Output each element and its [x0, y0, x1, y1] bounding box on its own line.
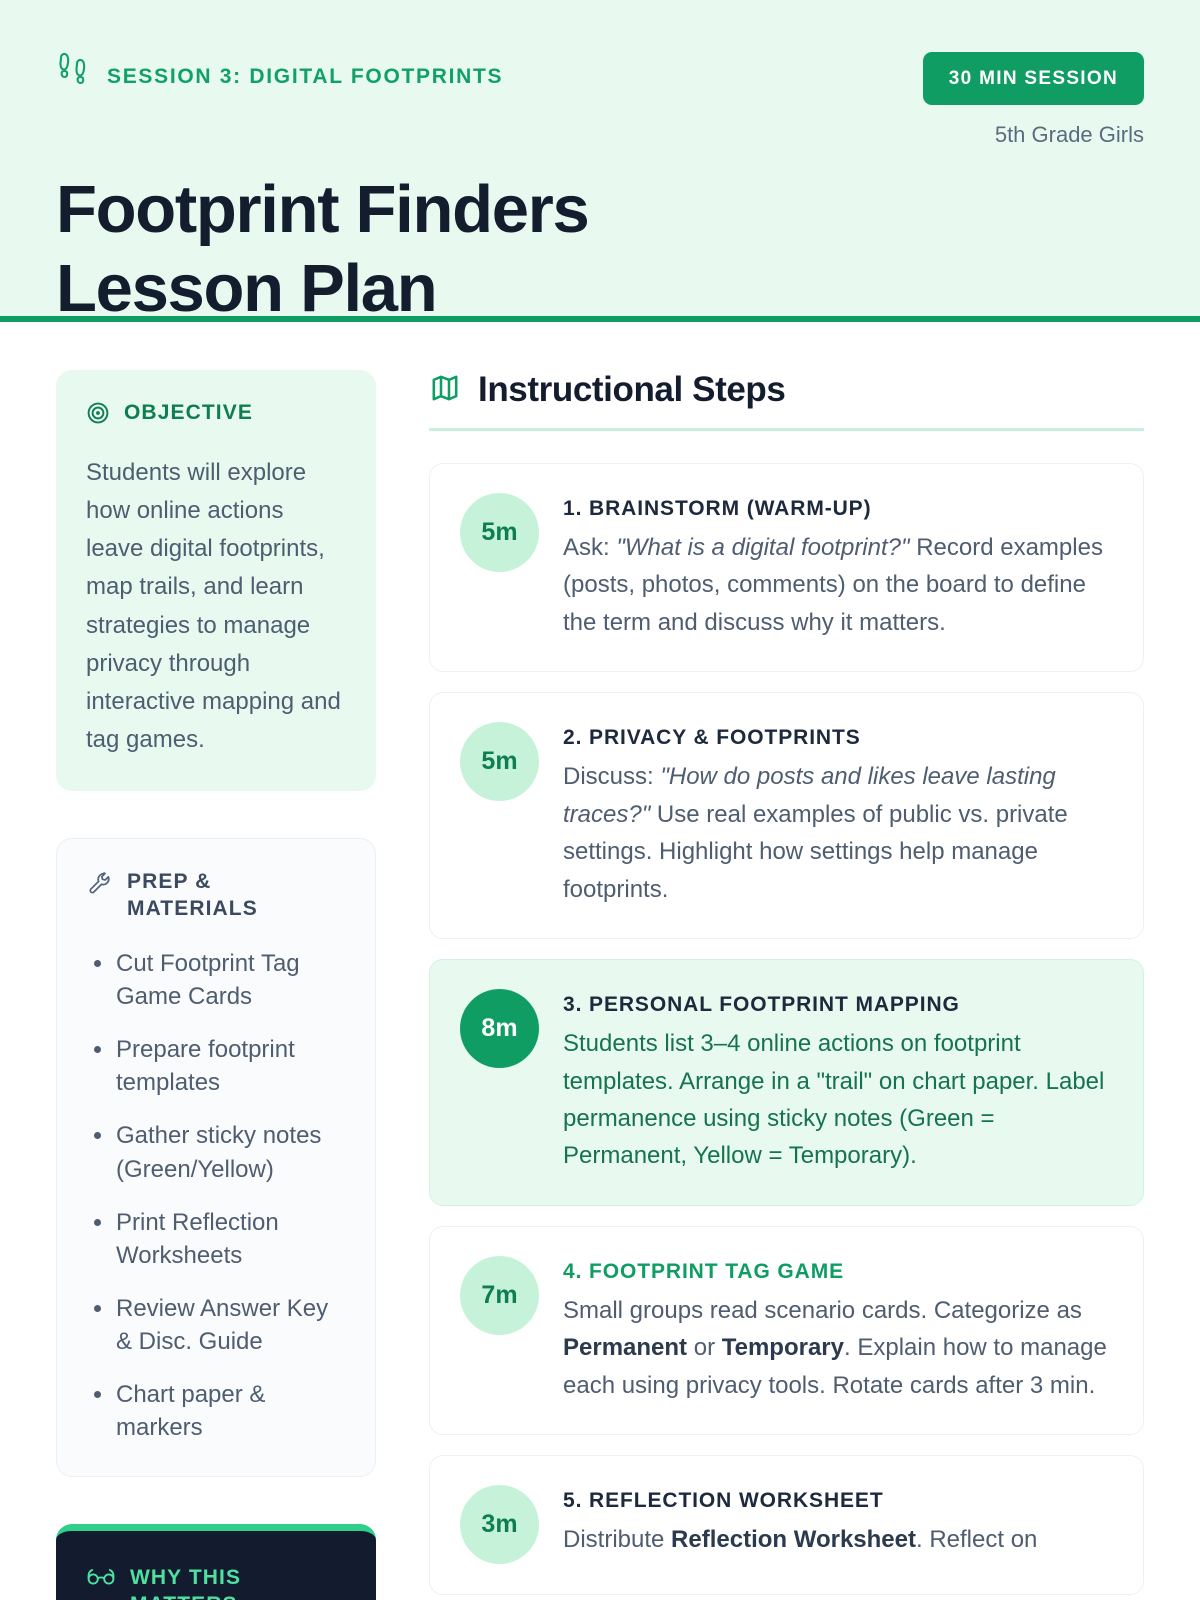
step-duration: 8m — [460, 989, 539, 1068]
step-text: Ask: "What is a digital footprint?" Reco… — [563, 529, 1113, 641]
objective-card: OBJECTIVE Students will explore how onli… — [56, 370, 376, 791]
step-title: 1. BRAINSTORM (WARM-UP) — [563, 497, 1113, 521]
step-duration: 5m — [460, 493, 539, 572]
list-item: Chart paper & markers — [87, 1378, 345, 1444]
header-top-row: SESSION 3: DIGITAL FOOTPRINTS 30 MIN SES… — [56, 52, 1144, 148]
step-title: 3. PERSONAL FOOTPRINT MAPPING — [563, 993, 1113, 1017]
prep-label: PREP & MATERIALS — [127, 869, 345, 923]
section-header: Instructional Steps — [429, 370, 1144, 431]
section-title: Instructional Steps — [478, 370, 785, 410]
step-title: 2. PRIVACY & FOOTPRINTS — [563, 726, 1113, 750]
why-this-matters-card: WHY THIS MATTERS — [56, 1524, 376, 1600]
step-title: 4. FOOTPRINT TAG GAME — [563, 1260, 1113, 1284]
prep-materials-card: PREP & MATERIALS Cut Footprint Tag Game … — [56, 838, 376, 1477]
duration-badge: 30 MIN SESSION — [923, 52, 1144, 105]
objective-card-header: OBJECTIVE — [86, 400, 346, 430]
step-text: Students list 3–4 online actions on foot… — [563, 1025, 1113, 1175]
steps-list: 5m 1. BRAINSTORM (WARM-UP) Ask: "What is… — [429, 463, 1144, 1595]
objective-text: Students will explore how online actions… — [86, 454, 346, 759]
why-card-header: WHY THIS MATTERS — [86, 1565, 346, 1600]
glasses-icon — [86, 1566, 116, 1593]
step-card: 5m 1. BRAINSTORM (WARM-UP) Ask: "What is… — [429, 463, 1144, 672]
step-text: Distribute Reflection Worksheet. Reflect… — [563, 1521, 1113, 1558]
step-card: 7m 4. FOOTPRINT TAG GAME Small groups re… — [429, 1226, 1144, 1435]
step-content: 3. PERSONAL FOOTPRINT MAPPING Students l… — [563, 989, 1113, 1175]
session-eyebrow: SESSION 3: DIGITAL FOOTPRINTS — [56, 52, 503, 101]
objective-label: OBJECTIVE — [124, 400, 253, 427]
step-duration: 5m — [460, 722, 539, 801]
step-text: Small groups read scenario cards. Catego… — [563, 1292, 1113, 1404]
page-title: Footprint Finders Lesson Plan — [56, 170, 816, 328]
map-icon — [429, 372, 461, 409]
step-card: 5m 2. PRIVACY & FOOTPRINTS Discuss: "How… — [429, 692, 1144, 939]
step-duration: 3m — [460, 1485, 539, 1564]
step-card: 8m 3. PERSONAL FOOTPRINT MAPPING Student… — [429, 959, 1144, 1206]
target-icon — [86, 401, 110, 430]
list-item: Cut Footprint Tag Game Cards — [87, 947, 345, 1013]
page-body: OBJECTIVE Students will explore how onli… — [0, 322, 1200, 1600]
sidebar: OBJECTIVE Students will explore how onli… — [56, 370, 376, 1600]
step-content: 1. BRAINSTORM (WARM-UP) Ask: "What is a … — [563, 493, 1113, 641]
list-item: Gather sticky notes (Green/Yellow) — [87, 1119, 345, 1185]
audience-label: 5th Grade Girls — [995, 122, 1144, 148]
header-meta: 30 MIN SESSION 5th Grade Girls — [923, 52, 1144, 148]
footprints-icon — [56, 52, 92, 101]
step-text: Discuss: "How do posts and likes leave l… — [563, 758, 1113, 908]
list-item: Print Reflection Worksheets — [87, 1206, 345, 1272]
why-label: WHY THIS MATTERS — [130, 1565, 346, 1600]
instructional-steps-section: Instructional Steps 5m 1. BRAINSTORM (WA… — [429, 370, 1144, 1600]
step-content: 2. PRIVACY & FOOTPRINTS Discuss: "How do… — [563, 722, 1113, 908]
wrench-icon — [87, 870, 113, 901]
session-label: SESSION 3: DIGITAL FOOTPRINTS — [107, 65, 503, 89]
list-item: Prepare footprint templates — [87, 1033, 345, 1099]
step-card: 3m 5. REFLECTION WORKSHEET Distribute Re… — [429, 1455, 1144, 1595]
step-content: 5. REFLECTION WORKSHEET Distribute Refle… — [563, 1485, 1113, 1558]
prep-card-header: PREP & MATERIALS — [87, 869, 345, 923]
materials-list: Cut Footprint Tag Game Cards Prepare foo… — [87, 947, 345, 1444]
step-content: 4. FOOTPRINT TAG GAME Small groups read … — [563, 1256, 1113, 1404]
list-item: Review Answer Key & Disc. Guide — [87, 1292, 345, 1358]
step-title: 5. REFLECTION WORKSHEET — [563, 1489, 1113, 1513]
page-header: SESSION 3: DIGITAL FOOTPRINTS 30 MIN SES… — [0, 0, 1200, 322]
step-duration: 7m — [460, 1256, 539, 1335]
